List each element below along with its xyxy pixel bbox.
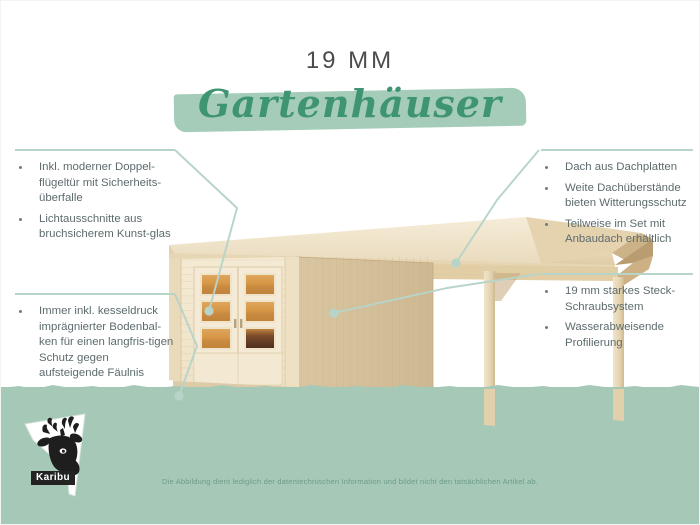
karibu-logo [19, 410, 111, 502]
list-item: Weite Dachüberstände bieten Witterungssc… [541, 181, 693, 212]
list-item: Inkl. moderner Doppel-flügeltür mit Sich… [15, 160, 175, 207]
callout-rule [541, 273, 693, 275]
list-item: Wasserabweisende Profilierung [541, 320, 693, 351]
list-item: 19 mm starkes Steck-Schraubsystem [541, 284, 693, 315]
callout-roof: Dach aus Dachplatten Weite Dachüberständ… [541, 149, 693, 253]
callout-wall-system: 19 mm starkes Steck-Schraubsystem Wasser… [541, 273, 693, 356]
list-item: Lichtausschnitte aus bruchsicherem Kunst… [15, 212, 175, 243]
callout-list: Immer inkl. kesseldruck imprägnierter Bo… [15, 304, 175, 382]
callout-rule [15, 149, 175, 151]
list-item: Dach aus Dachplatten [541, 160, 693, 176]
callout-door-and-glass: Inkl. moderner Doppel-flügeltür mit Sich… [15, 149, 175, 248]
callout-rule [15, 293, 175, 295]
list-item: Immer inkl. kesseldruck imprägnierter Bo… [15, 304, 175, 382]
product-info-card: 19 MM Gartenhäuser Inkl. moderner Doppel… [0, 0, 700, 525]
callout-list: 19 mm starkes Steck-Schraubsystem Wasser… [541, 284, 693, 351]
callout-rule [541, 149, 693, 151]
callout-list: Inkl. moderner Doppel-flügeltür mit Sich… [15, 160, 175, 243]
disclaimer-text: Die Abbildung dient lediglich der datent… [1, 477, 699, 486]
callout-list: Dach aus Dachplatten Weite Dachüberständ… [541, 160, 693, 248]
callout-floor-beam: Immer inkl. kesseldruck imprägnierter Bo… [15, 293, 175, 387]
list-item: Teilweise im Set mit Anbaudach erhältlic… [541, 217, 693, 248]
